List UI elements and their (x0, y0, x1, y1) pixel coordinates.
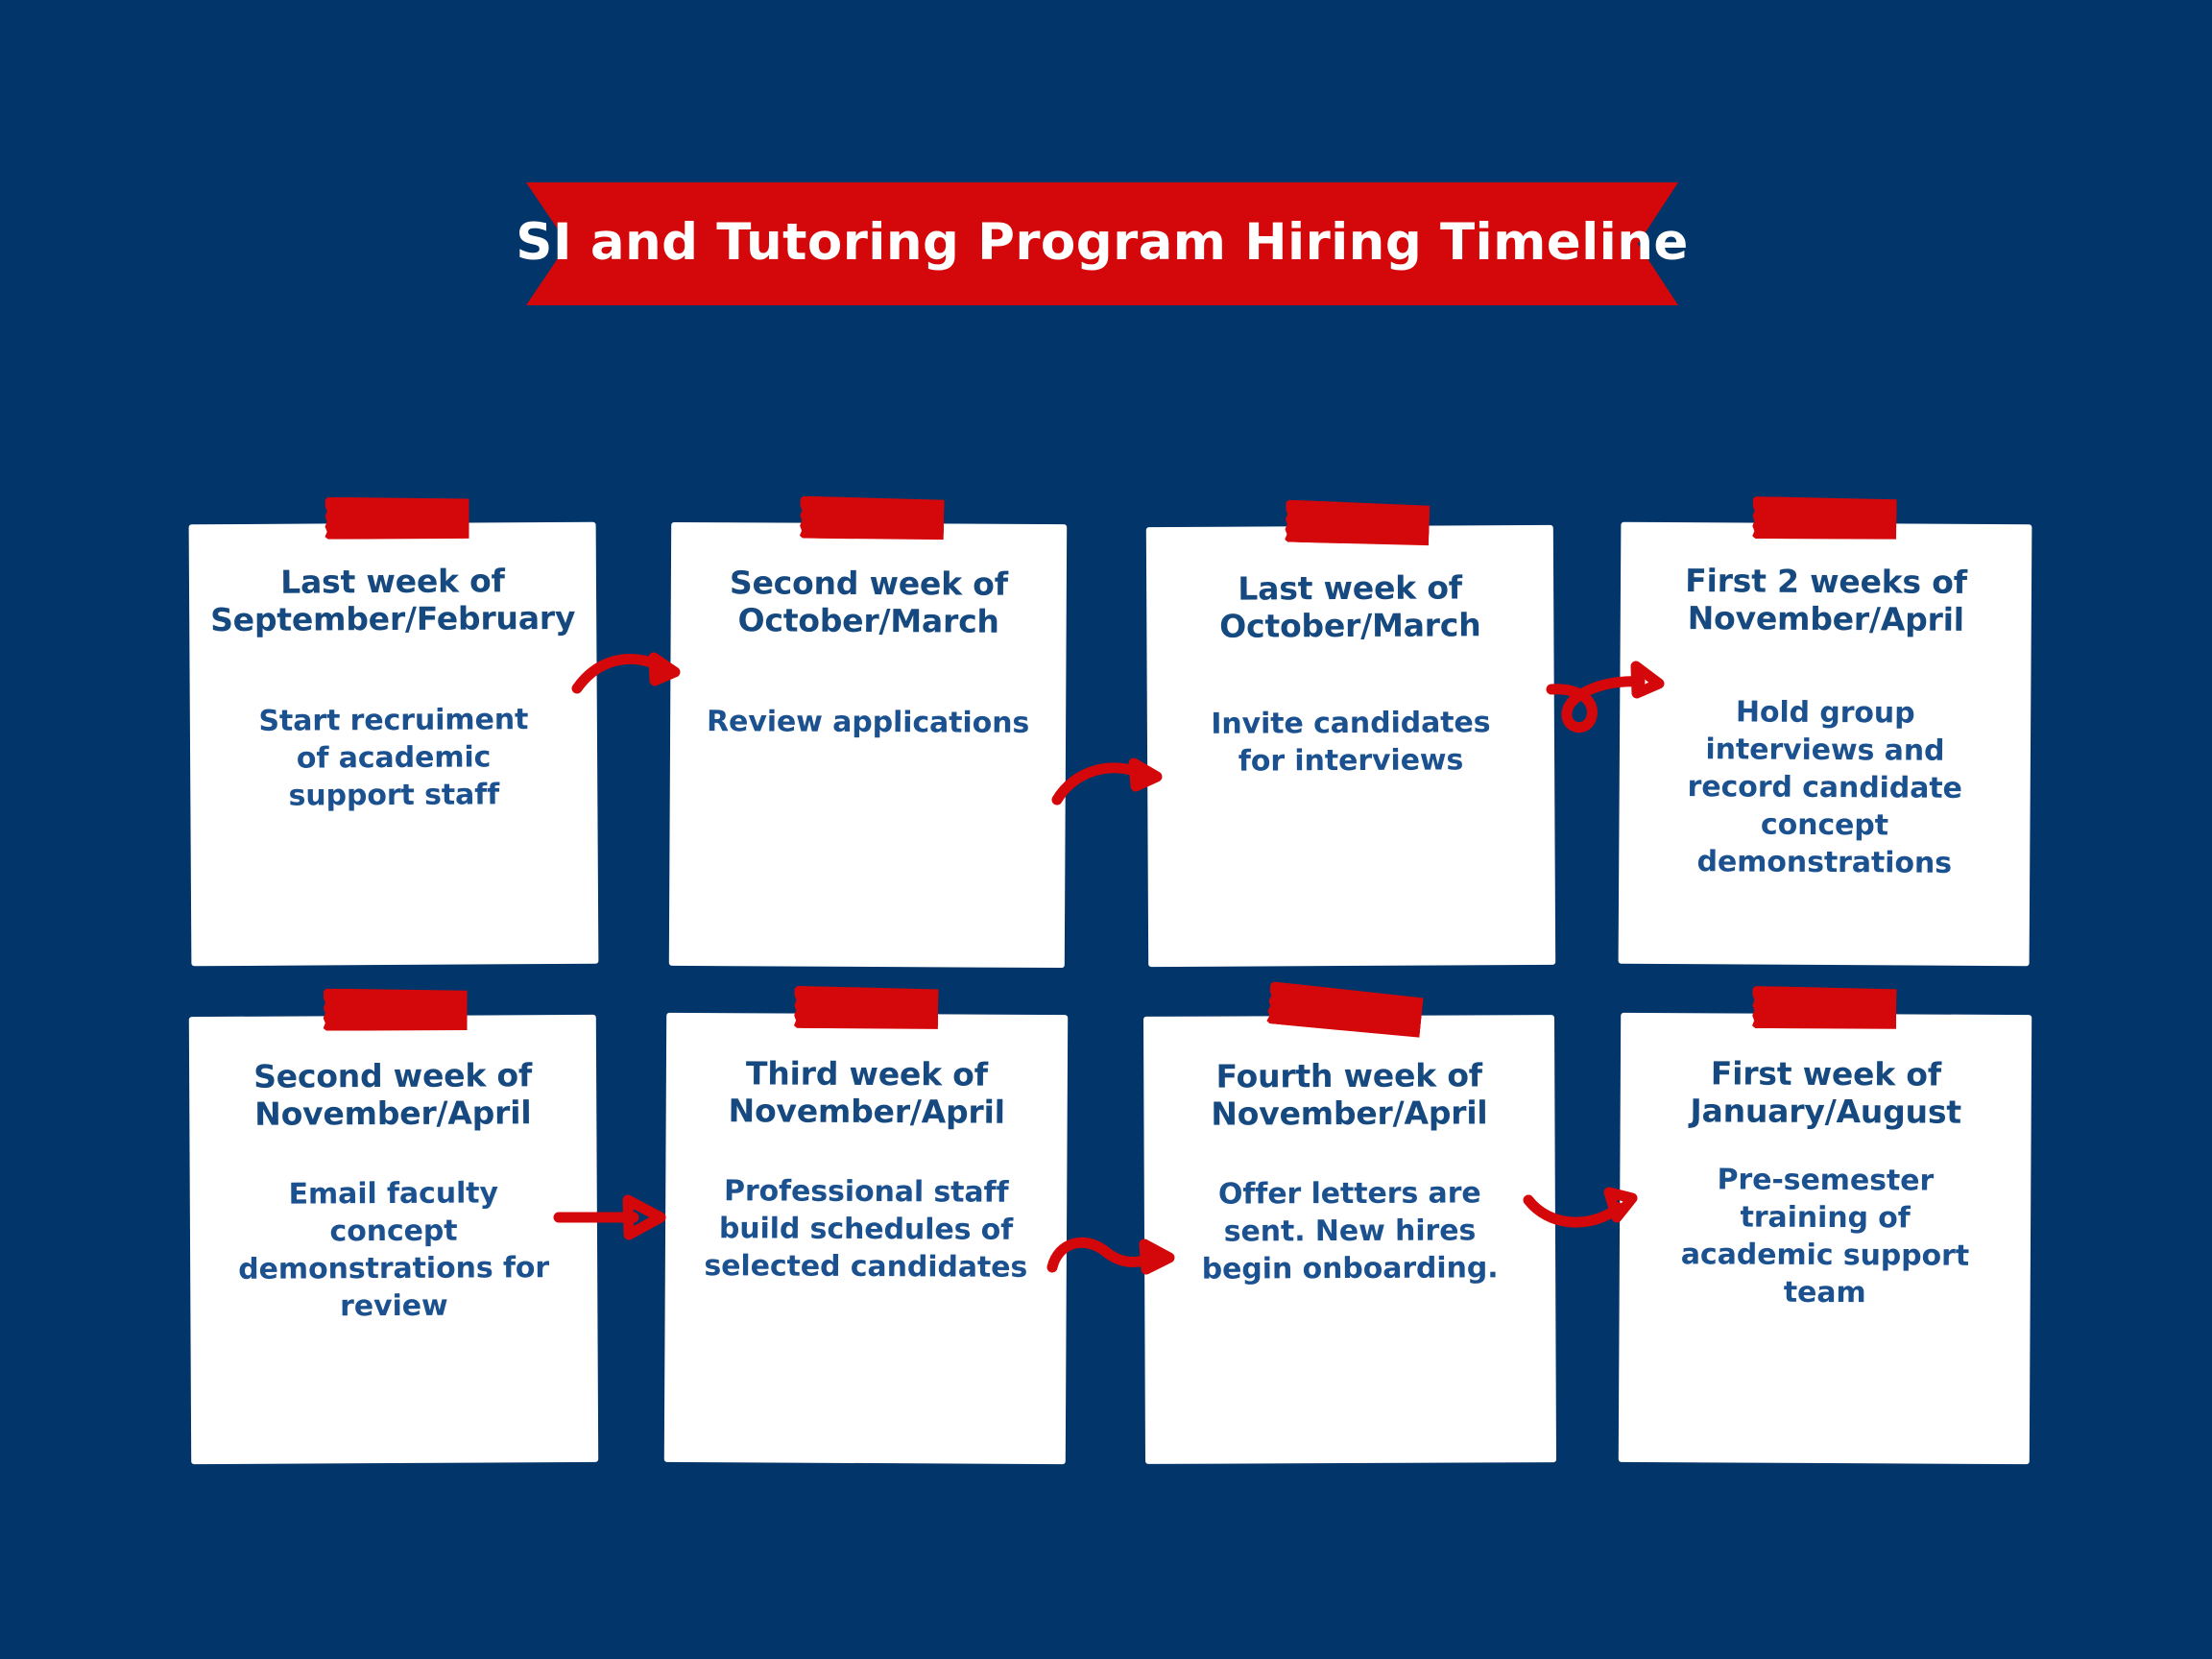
tape-strip-8 (1752, 986, 1897, 1030)
card-6-content: Third week of November/April Professiona… (665, 1055, 1068, 1286)
tape-strip-1 (325, 497, 469, 540)
timeline-card-5[interactable]: Second week of November/April Email facu… (189, 1015, 598, 1464)
card-7-content: Fourth week of November/April Offer lett… (1143, 1057, 1555, 1288)
card-2-content: Second week of October/March Review appl… (670, 565, 1067, 742)
card-6-body: Professional staff build schedules of se… (665, 1172, 1068, 1286)
card-3-content: Last week of October/March Invite candid… (1146, 569, 1554, 781)
timeline-card-8[interactable]: First week of January/August Pre-semeste… (1619, 1013, 2032, 1464)
connector-arrow-2-3 (1051, 754, 1176, 813)
timeline-card-1[interactable]: Last week of September/February Start re… (189, 522, 599, 967)
connector-arrow-1-2 (571, 648, 696, 706)
card-1-body: Start recruiment of academic support sta… (190, 701, 598, 816)
card-1-heading: Last week of September/February (189, 563, 596, 639)
title-banner: SI and Tutoring Program Hiring Timeline (526, 182, 1678, 305)
card-1-content: Last week of September/February Start re… (189, 563, 598, 815)
timeline-card-7[interactable]: Fourth week of November/April Offer lett… (1143, 1015, 1556, 1464)
card-8-content: First week of January/August Pre-semeste… (1620, 1055, 2032, 1312)
tape-strip-5 (324, 989, 468, 1032)
card-6-heading: Third week of November/April (666, 1055, 1068, 1132)
card-8-heading: First week of January/August (1621, 1055, 2032, 1132)
tape-strip-4 (1752, 496, 1897, 541)
card-2-heading: Second week of October/March (671, 565, 1067, 641)
timeline-card-2[interactable]: Second week of October/March Review appl… (669, 522, 1067, 968)
card-4-heading: First 2 weeks of November/April (1621, 563, 2032, 639)
tape-strip-2 (800, 496, 945, 541)
card-5-heading: Second week of November/April (189, 1057, 596, 1134)
timeline-card-3[interactable]: Last week of October/March Invite candid… (1146, 525, 1555, 967)
page-title: SI and Tutoring Program Hiring Timeline (526, 182, 1678, 305)
connector-arrow-7-8 (1525, 1183, 1659, 1242)
card-8-body: Pre-semester training of academic suppor… (1620, 1161, 2032, 1312)
tape-strip-3 (1285, 499, 1430, 546)
connector-arrow-6-7 (1046, 1227, 1186, 1286)
card-3-body: Invite candidates for interviews (1147, 704, 1554, 781)
tape-strip-6 (794, 986, 939, 1030)
card-5-content: Second week of November/April Email facu… (189, 1057, 597, 1326)
card-7-heading: Fourth week of November/April (1143, 1057, 1554, 1134)
card-5-body: Email faculty concept demonstrations for… (190, 1174, 598, 1326)
timeline-card-6[interactable]: Third week of November/April Professiona… (664, 1013, 1068, 1464)
card-2-body: Review applications (670, 703, 1066, 742)
tape-strip-7 (1266, 981, 1424, 1039)
card-7-body: Offer letters are sent. New hires begin … (1144, 1174, 1556, 1288)
connector-arrow-5-6 (555, 1190, 680, 1248)
card-3-heading: Last week of October/March (1146, 569, 1553, 646)
connector-arrow-3-4 (1548, 662, 1687, 749)
